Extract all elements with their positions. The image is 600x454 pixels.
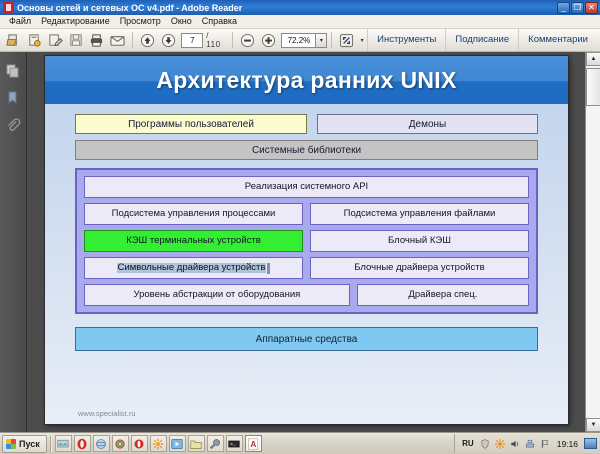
show-desktop-tray-icon[interactable] bbox=[584, 438, 597, 449]
antivirus-icon[interactable] bbox=[495, 438, 506, 449]
taskbar: Пуск >_ A RU 19:16 bbox=[0, 432, 600, 454]
daemons-box: Демоны bbox=[317, 114, 538, 134]
vertical-scrollbar[interactable]: ▲ ▼ bbox=[585, 52, 600, 432]
fit-page-icon[interactable] bbox=[337, 31, 356, 50]
slide-header: Архитектура ранних UNIX bbox=[45, 56, 568, 104]
print-icon[interactable] bbox=[87, 31, 106, 50]
navigation-pane bbox=[0, 52, 27, 432]
selected-text: Символьные драйвера устройств bbox=[117, 263, 267, 273]
chrome-icon[interactable] bbox=[112, 435, 129, 452]
scrollbar-track[interactable] bbox=[586, 66, 600, 418]
settings-icon[interactable] bbox=[150, 435, 167, 452]
save-icon[interactable] bbox=[66, 31, 85, 50]
kernel-block: Реализация системного API Подсистема упр… bbox=[75, 168, 538, 314]
taskbar-separator bbox=[50, 436, 52, 452]
hardware-abstraction-box: Уровень абстракции от оборудования bbox=[84, 284, 350, 306]
create-pdf-icon[interactable] bbox=[25, 31, 44, 50]
opera-alt-icon[interactable] bbox=[131, 435, 148, 452]
slide-title: Архитектура ранних UNIX bbox=[156, 67, 456, 94]
language-indicator[interactable]: RU bbox=[460, 439, 476, 448]
media-player-icon[interactable] bbox=[169, 435, 186, 452]
terminal-icon[interactable]: >_ bbox=[226, 435, 243, 452]
toolbar-separator-2 bbox=[232, 32, 233, 48]
userspace-row: Программы пользователей Демоны bbox=[75, 114, 538, 134]
tools-panel-button[interactable]: Инструменты bbox=[367, 29, 445, 51]
system-api-box: Реализация системного API bbox=[84, 176, 529, 198]
window-title: Основы сетей и сетевых ОС v4.pdf - Adobe… bbox=[17, 3, 242, 13]
comment-panel-button[interactable]: Комментарии bbox=[518, 29, 597, 51]
security-icon[interactable] bbox=[480, 438, 491, 449]
svg-text:>_: >_ bbox=[231, 441, 237, 447]
svg-text:A: A bbox=[251, 440, 257, 449]
block-drivers-box: Блочные драйвера устройств bbox=[310, 257, 529, 279]
system-libraries-box: Системные библиотеки bbox=[75, 140, 538, 160]
menu-item-edit[interactable]: Редактирование bbox=[36, 15, 115, 28]
explorer-folder-icon[interactable] bbox=[188, 435, 205, 452]
show-desktop-icon[interactable] bbox=[55, 435, 72, 452]
toolbar-separator bbox=[132, 32, 133, 48]
menu-item-file[interactable]: Файл bbox=[4, 15, 36, 28]
window-title-bar: Основы сетей и сетевых ОС v4.pdf - Adobe… bbox=[0, 0, 600, 15]
open-file-icon[interactable] bbox=[4, 31, 23, 50]
hardware-box: Аппаратные средства bbox=[75, 327, 538, 351]
slide-body: Программы пользователей Демоны Системные… bbox=[45, 104, 568, 424]
kernel-row-subsystems: Подсистема управления процессами Подсист… bbox=[84, 203, 529, 225]
scroll-up-button[interactable]: ▲ bbox=[586, 52, 600, 66]
zoom-out-button[interactable] bbox=[238, 31, 257, 50]
maximize-button[interactable]: ❐ bbox=[571, 2, 584, 14]
sign-panel-button[interactable]: Подписание bbox=[445, 29, 518, 51]
process-subsystem-box: Подсистема управления процессами bbox=[84, 203, 303, 225]
pdf-page[interactable]: Архитектура ранних UNIX Программы пользо… bbox=[45, 56, 568, 424]
start-label: Пуск bbox=[19, 439, 40, 449]
window-controls: _ ❐ ✕ bbox=[557, 2, 600, 14]
kernel-row-hal: Уровень абстракции от оборудования Драйв… bbox=[84, 284, 529, 306]
document-work-area: Архитектура ранних UNIX Программы пользо… bbox=[0, 52, 600, 432]
start-button[interactable]: Пуск bbox=[2, 435, 47, 453]
user-programs-box: Программы пользователей bbox=[75, 114, 307, 134]
quick-launch-bar: >_ A bbox=[55, 435, 262, 452]
close-button[interactable]: ✕ bbox=[585, 2, 598, 14]
menu-item-view[interactable]: Просмотр bbox=[115, 15, 166, 28]
main-toolbar: 7 / 110 72,2% ▾ ▾ Инструменты Подписание… bbox=[0, 29, 600, 52]
network-icon[interactable] bbox=[525, 438, 536, 449]
bookmarks-icon[interactable] bbox=[2, 87, 24, 109]
zoom-dropdown-icon[interactable]: ▾ bbox=[315, 33, 327, 48]
terminal-cache-box: КЭШ терминальных устройств bbox=[84, 230, 303, 252]
block-cache-box: Блочный КЭШ bbox=[310, 230, 529, 252]
kernel-row-caches: КЭШ терминальных устройств Блочный КЭШ bbox=[84, 230, 529, 252]
flag-icon[interactable] bbox=[540, 438, 551, 449]
volume-icon[interactable] bbox=[510, 438, 521, 449]
zoom-level-input[interactable]: 72,2% bbox=[281, 33, 315, 48]
edit-pdf-icon[interactable] bbox=[46, 31, 65, 50]
acrobat-icon bbox=[3, 2, 14, 13]
page-thumbnails-icon[interactable] bbox=[2, 60, 24, 82]
page-total-label: / 110 bbox=[206, 31, 226, 49]
kernel-row-drivers: Символьные драйвера устройств Блочные др… bbox=[84, 257, 529, 279]
desktop-root: Основы сетей и сетевых ОС v4.pdf - Adobe… bbox=[0, 0, 600, 454]
windows-logo-icon bbox=[6, 439, 16, 449]
scrollbar-thumb[interactable] bbox=[586, 68, 600, 106]
adobe-reader-taskbar-icon[interactable]: A bbox=[245, 435, 262, 452]
fit-dropdown-icon[interactable]: ▾ bbox=[357, 33, 367, 48]
opera-icon[interactable] bbox=[74, 435, 91, 452]
previous-page-button[interactable] bbox=[138, 31, 157, 50]
page-number-input[interactable]: 7 bbox=[181, 33, 203, 48]
toolbar-separator-3 bbox=[331, 32, 332, 48]
menu-item-help[interactable]: Справка bbox=[197, 15, 242, 28]
char-drivers-box[interactable]: Символьные драйвера устройств bbox=[84, 257, 303, 279]
special-drivers-box: Драйвера спец. bbox=[357, 284, 529, 306]
file-subsystem-box: Подсистема управления файлами bbox=[310, 203, 529, 225]
next-page-button[interactable] bbox=[159, 31, 178, 50]
zoom-in-button[interactable] bbox=[259, 31, 278, 50]
email-icon[interactable] bbox=[108, 31, 127, 50]
clock[interactable]: 19:16 bbox=[555, 439, 580, 449]
system-tray: RU 19:16 bbox=[454, 434, 600, 453]
menu-bar: Файл Редактирование Просмотр Окно Справк… bbox=[0, 15, 600, 29]
tools-icon[interactable] bbox=[207, 435, 224, 452]
internet-explorer-icon[interactable] bbox=[93, 435, 110, 452]
toolbar-right-panels: Инструменты Подписание Комментарии bbox=[367, 29, 597, 52]
menu-item-window[interactable]: Окно bbox=[166, 15, 197, 28]
slide-footer-url: www.specialist.ru bbox=[78, 409, 136, 418]
minimize-button[interactable]: _ bbox=[557, 2, 570, 14]
attachments-icon[interactable] bbox=[2, 114, 24, 136]
selection-caret bbox=[267, 263, 270, 274]
scroll-down-button[interactable]: ▼ bbox=[586, 418, 600, 432]
